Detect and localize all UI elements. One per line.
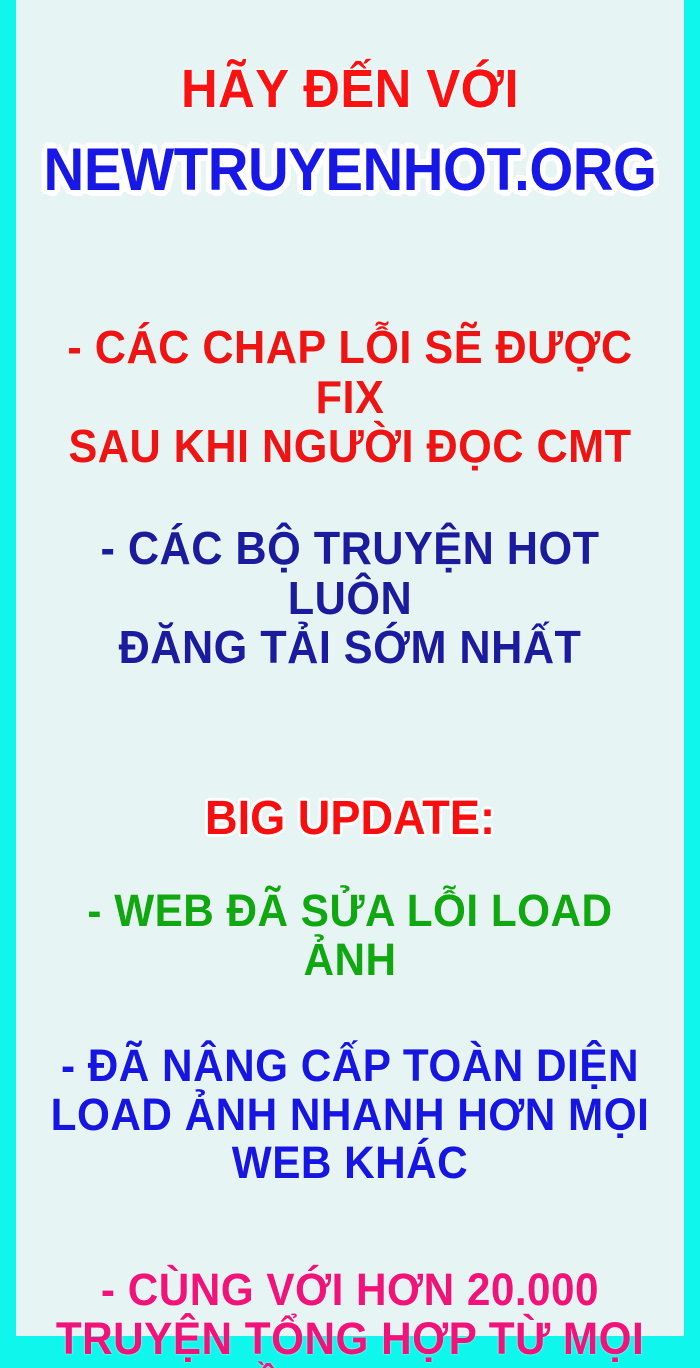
site-url-text[interactable]: NEWTRUYENHOT.ORG xyxy=(36,138,664,203)
fix-notice: - CÁC CHAP LỖI SẼ ĐƯỢC FIX SAU KHI NGƯỜI… xyxy=(36,323,664,472)
full-upgrade-line-3: WEB KHÁC xyxy=(36,1139,664,1188)
left-accent-band xyxy=(0,0,16,1368)
banner-content: HÃY ĐẾN VỚI NEWTRUYENHOT.ORG - CÁC CHAP … xyxy=(16,0,684,1336)
catalog-size-line-1: - CÙNG VỚI HƠN 20.000 xyxy=(36,1266,664,1315)
catalog-size-line-2: TRUYỆN TỔNG HỢP TỪ MỌI xyxy=(36,1315,664,1364)
full-upgrade-line-2: LOAD ẢNH NHANH HƠN MỌI xyxy=(36,1091,664,1140)
catalog-size-notice: - CÙNG VỚI HƠN 20.000 TRUYỆN TỔNG HỢP TỪ… xyxy=(36,1266,664,1368)
right-accent-band xyxy=(684,0,700,1368)
fix-notice-line-2: SAU KHI NGƯỜI ĐỌC CMT xyxy=(36,422,664,472)
hot-series-notice-line-2: ĐĂNG TẢI SỚM NHẤT xyxy=(36,623,664,673)
hot-series-notice-line-1: - CÁC BỘ TRUYỆN HOT LUÔN xyxy=(36,524,664,623)
full-upgrade-line-1: - ĐÃ NÂNG CẤP TOÀN DIỆN xyxy=(36,1042,664,1091)
headline-text: HÃY ĐẾN VỚI xyxy=(36,60,664,118)
full-upgrade-notice: - ĐÃ NÂNG CẤP TOÀN DIỆN LOAD ẢNH NHANH H… xyxy=(36,1042,664,1188)
update-heading: BIG UPDATE: xyxy=(36,793,664,845)
fix-notice-line-1: - CÁC CHAP LỖI SẼ ĐƯỢC FIX xyxy=(36,323,664,422)
hot-series-notice: - CÁC BỘ TRUYỆN HOT LUÔN ĐĂNG TẢI SỚM NH… xyxy=(36,524,664,673)
image-load-fix-notice: - WEB ĐÃ SỬA LỖI LOAD ẢNH xyxy=(36,887,664,984)
promo-banner: HÃY ĐẾN VỚI NEWTRUYENHOT.ORG - CÁC CHAP … xyxy=(0,0,700,1368)
image-load-fix-line-1: - WEB ĐÃ SỬA LỖI LOAD ẢNH xyxy=(36,887,664,984)
